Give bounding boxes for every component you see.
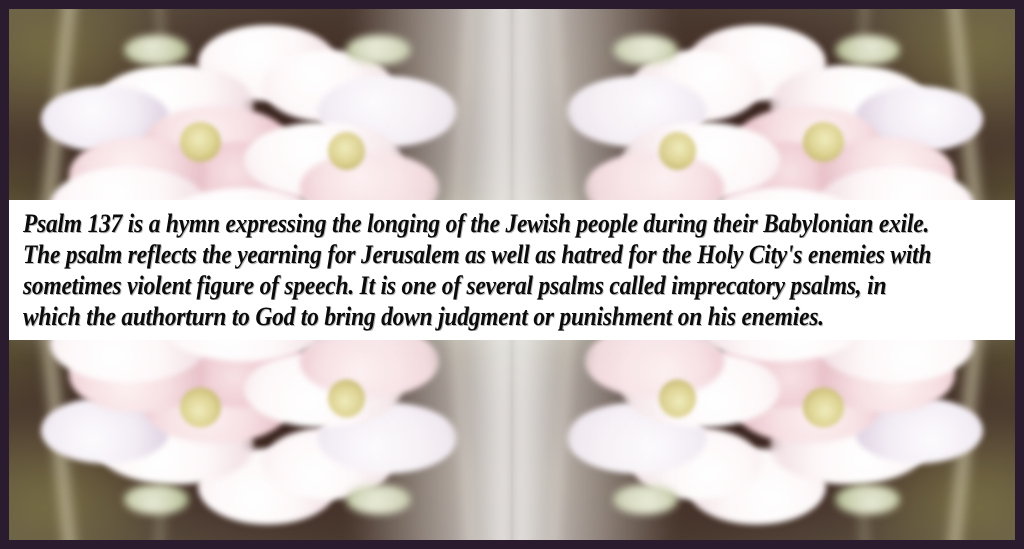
quote-line: sometimes violent figure of speech. It i…: [23, 270, 907, 301]
quote-line: Psalm 137 is a hymn expressing the longi…: [23, 208, 907, 239]
quote-text-band: Psalm 137 is a hymn expressing the longi…: [9, 200, 1015, 340]
quote-line: The psalm reflects the yearning for Jeru…: [23, 239, 907, 270]
quote-line: which the authorturn to God to bring dow…: [23, 301, 907, 332]
quote-image-canvas: Psalm 137 is a hymn expressing the longi…: [0, 0, 1024, 549]
